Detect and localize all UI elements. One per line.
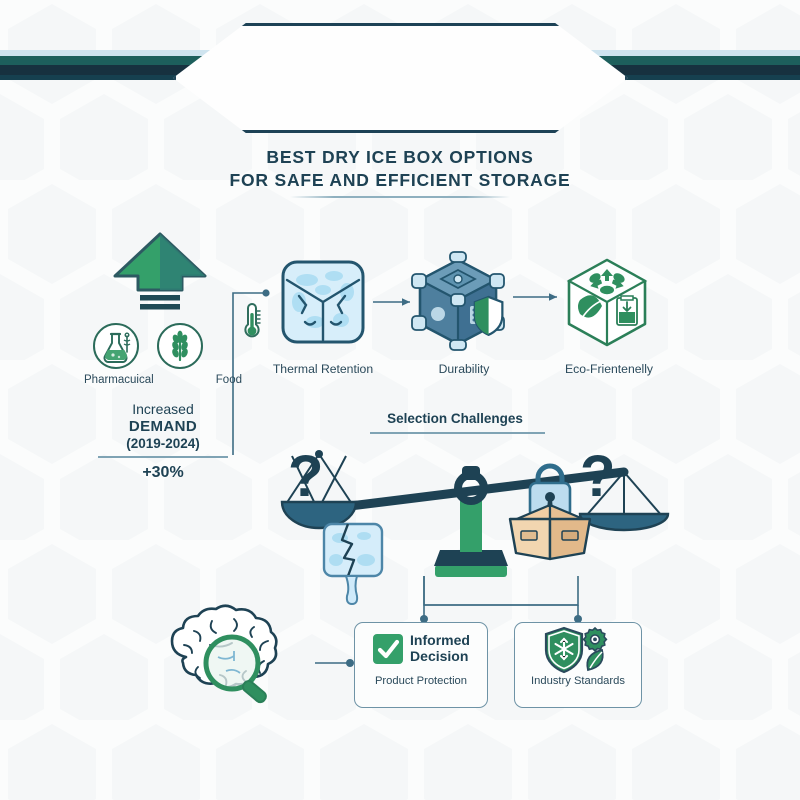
card-informed-decision[interactable]: Informed Decision Product Protection xyxy=(354,622,488,708)
card-informed-caption: Product Protection xyxy=(355,675,487,687)
page-title-line2: FOR SAFE AND EFFICIENT STORAGE xyxy=(0,169,800,192)
title-divider xyxy=(290,196,510,198)
demand-line-years: (2019-2024) xyxy=(78,436,248,452)
card-industry-top xyxy=(515,623,641,675)
selection-challenges-title: Selection Challenges xyxy=(330,411,580,426)
melting-ice-cube-icon xyxy=(318,520,394,610)
demand-divider xyxy=(98,456,228,458)
selection-challenges-divider xyxy=(370,432,545,434)
feature-durability: Durability xyxy=(389,246,539,376)
demand-sector-icons xyxy=(92,322,232,370)
armored-cube-shield-icon xyxy=(408,248,520,356)
card-informed-top: Informed Decision xyxy=(355,623,487,675)
header-hex-badge-inner xyxy=(176,26,625,130)
green-checkmark-icon xyxy=(372,633,404,665)
card-informed-headline-line2: Decision xyxy=(410,649,470,665)
feature-label-eco: Eco-Frientenelly xyxy=(534,362,684,376)
feature-thermal-retention: Thermal Retention xyxy=(248,246,398,376)
card-informed-headline-line1: Informed xyxy=(410,633,470,649)
feature-label-durability: Durability xyxy=(389,362,539,376)
sector-label-food: Food xyxy=(216,374,242,386)
connector-dot-brain xyxy=(346,659,354,667)
brain-analysis-illustration xyxy=(150,605,320,715)
brain-magnifier-icon xyxy=(150,605,320,715)
demand-sector-labels: Pharmacuical Food xyxy=(78,374,248,386)
page-title-line1: BEST DRY ICE BOX OPTIONS xyxy=(0,146,800,169)
demand-text-block: Increased DEMAND (2019-2024) xyxy=(78,401,248,453)
demand-arrow xyxy=(112,232,208,312)
feature-eco-friendly: Eco-Frientenelly xyxy=(534,246,684,376)
card-informed-headline: Informed Decision xyxy=(410,633,470,664)
infographic-page: BEST DRY ICE BOX OPTIONS FOR SAFE AND EF… xyxy=(0,0,800,800)
eco-recycle-cube-icon xyxy=(555,250,663,354)
demand-line-demand: DEMAND xyxy=(78,418,248,436)
feature-label-thermal: Thermal Retention xyxy=(248,362,398,376)
page-title: BEST DRY ICE BOX OPTIONS FOR SAFE AND EF… xyxy=(0,146,800,192)
shield-snowflake-gear-leaf-icon xyxy=(540,626,616,672)
locked-box-icon xyxy=(494,455,606,570)
card-industry-caption: Industry Standards xyxy=(515,675,641,687)
demand-percent: +30% xyxy=(78,464,248,482)
card-industry-standards[interactable]: Industry Standards xyxy=(514,622,642,708)
wheat-icon xyxy=(156,322,204,370)
up-arrow-icon xyxy=(112,232,208,312)
flask-caduceus-icon xyxy=(92,322,140,370)
demand-line-increased: Increased xyxy=(78,401,248,418)
ice-cube-icon xyxy=(271,250,375,354)
sector-label-pharma: Pharmacuical xyxy=(84,374,154,386)
